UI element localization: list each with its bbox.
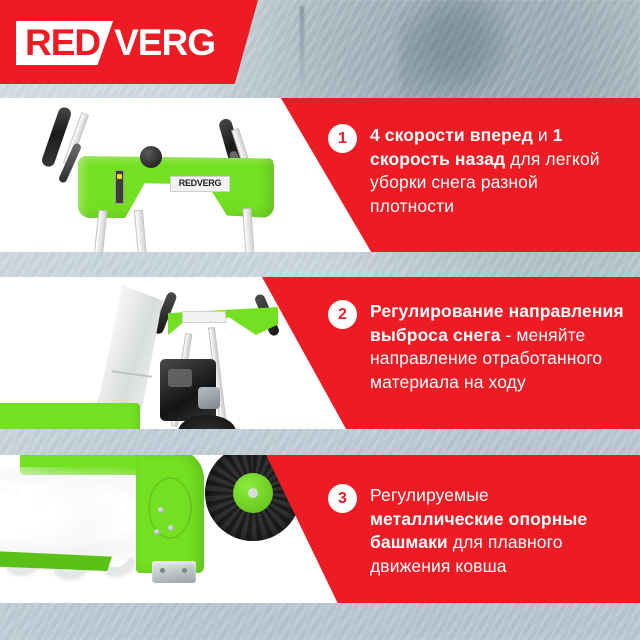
skid-shoe-bolt-2 (182, 568, 187, 573)
console-brand-plate: REDVERG (170, 176, 230, 192)
logo-verg-text: VERG (113, 21, 215, 65)
feature-band-1: REDVERG 1 4 скорости вперед и 1 скорость… (0, 98, 640, 252)
redverg-logo: RED VERG (16, 21, 215, 65)
feature-badge-2: 2 (328, 300, 357, 329)
engine-cover-panel (168, 369, 192, 387)
feature-text-regular: Регулируемые (370, 485, 489, 505)
infographic-banner: RED VERG REDVERG 1 4 скорости вперед и 1… (0, 0, 640, 640)
feature-band-2: 2 Регулирование направления выброса снег… (0, 277, 640, 429)
feature-content-2: 2 Регулирование направления выброса снег… (328, 300, 626, 394)
gear-indicator-dot (117, 174, 122, 179)
discharge-chute (96, 284, 164, 422)
feature-band-3: 3 Регулируемые металлические опорные баш… (0, 455, 640, 603)
feature-content-1: 1 4 скорости вперед и 1 скорость назад д… (328, 124, 626, 218)
frame-tube-center (134, 210, 147, 252)
panel-bolt-3 (154, 529, 160, 535)
feature-badge-1: 1 (328, 124, 357, 153)
feature-content-3: 3 Регулируемые металлические опорные баш… (328, 484, 626, 578)
logo-red-text: RED (16, 21, 113, 65)
feature-text-strong: Регулирование направления выброса снега (370, 301, 624, 345)
feature-text-3: Регулируемые металлические опорные башма… (370, 484, 626, 578)
feature-text-1: 4 скорости вперед и 1 скорость назад для… (370, 124, 626, 218)
panel-bolt-2 (168, 525, 174, 531)
blurred-pole-shape (300, 6, 304, 84)
blurred-tree-shape (400, 0, 520, 104)
auger-housing-2 (0, 403, 140, 429)
header-banner: RED VERG (0, 0, 258, 84)
feature-text-strong: 4 скорости вперед (370, 125, 538, 145)
metal-skid-shoe (152, 561, 196, 583)
chute-control-knob (140, 146, 162, 168)
feature-text-regular: и (538, 125, 553, 145)
skid-shoe-bolt-1 (160, 568, 165, 573)
feature-text-2: Регулирование направления выброса снега … (370, 300, 626, 394)
engine-muffler (198, 387, 220, 409)
feature-badge-3: 3 (328, 484, 357, 513)
console-brand-plate-2 (182, 311, 226, 323)
panel-bolt-1 (158, 507, 164, 513)
wheel-hub-cap (248, 488, 258, 498)
